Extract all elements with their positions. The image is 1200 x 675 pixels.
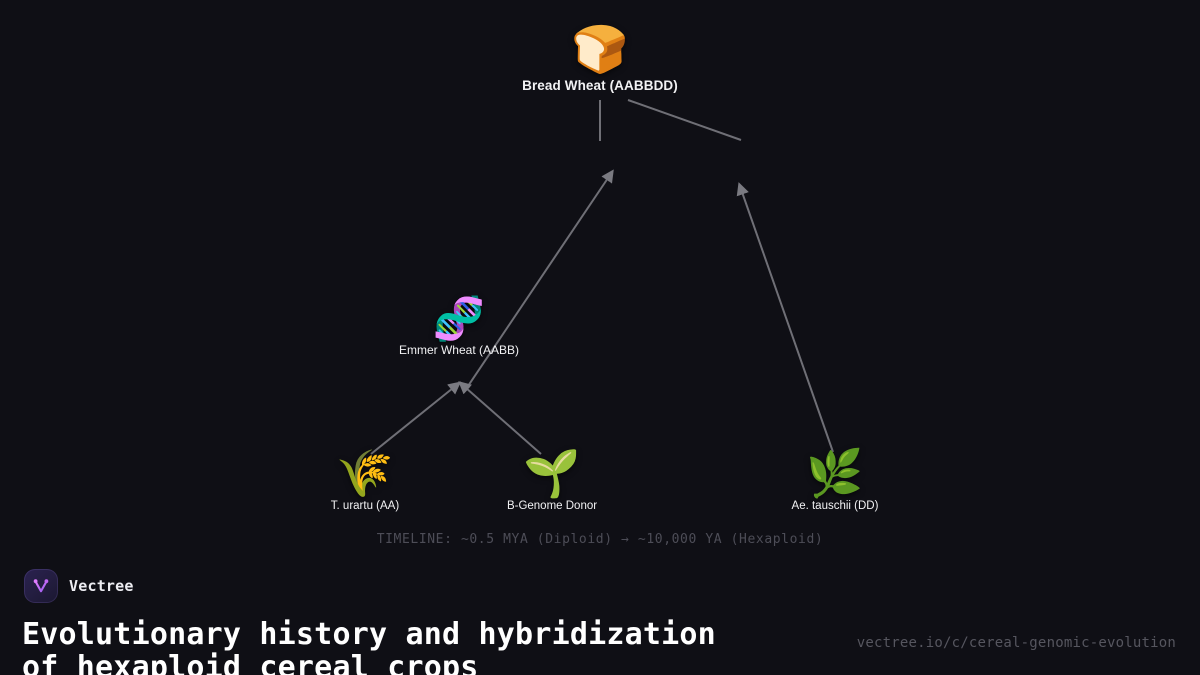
- edge-ae-tauschii-to-bread-wheat: [742, 192, 833, 452]
- brand-name: Vectree: [69, 577, 134, 595]
- graph-node-b-genome-donor[interactable]: 🌱 B-Genome Donor: [447, 450, 657, 512]
- brand-row[interactable]: Vectree: [24, 569, 134, 603]
- footer-bar: Vectree Evolutionary history and hybridi…: [0, 558, 1200, 675]
- sheaf-of-rice-icon: 🌾: [336, 450, 393, 496]
- herb-icon: 🌿: [806, 450, 863, 496]
- vectree-tree-logo-icon: [24, 569, 58, 603]
- page-title: Evolutionary history and hybridization o…: [22, 618, 716, 675]
- edge-b-genome-to-emmer: [466, 388, 541, 454]
- edge-bread-wheat-right-stub: [628, 100, 741, 140]
- dna-icon: 🧬: [433, 298, 485, 340]
- graph-node-label: T. urartu (AA): [331, 500, 399, 512]
- graph-node-label: Bread Wheat (AABBDD): [522, 78, 678, 93]
- graph-node-label: Ae. tauschii (DD): [792, 500, 879, 512]
- graph-node-label: B-Genome Donor: [507, 500, 597, 512]
- edge-t-urartu-to-emmer: [371, 388, 453, 454]
- timeline-caption: TIMELINE: ~0.5 MYA (Diploid) → ~10,000 Y…: [0, 532, 1200, 547]
- graph-node-bread-wheat[interactable]: 🍞 Bread Wheat (AABBDD): [495, 26, 705, 93]
- edge-emmer-to-bread-wheat: [464, 178, 608, 392]
- seedling-icon: 🌱: [523, 450, 580, 496]
- graph-node-t-urartu[interactable]: 🌾 T. urartu (AA): [260, 450, 470, 512]
- graph-node-emmer-wheat[interactable]: 🧬 Emmer Wheat (AABB): [354, 298, 564, 357]
- graph-node-ae-tauschii[interactable]: 🌿 Ae. tauschii (DD): [730, 450, 940, 512]
- permalink-url: vectree.io/c/cereal-genomic-evolution: [857, 635, 1176, 651]
- screenshot-root: 🍞 Bread Wheat (AABBDD) 🧬 Emmer Wheat (AA…: [0, 0, 1200, 675]
- graph-node-label: Emmer Wheat (AABB): [399, 343, 519, 357]
- bread-icon: 🍞: [571, 26, 628, 72]
